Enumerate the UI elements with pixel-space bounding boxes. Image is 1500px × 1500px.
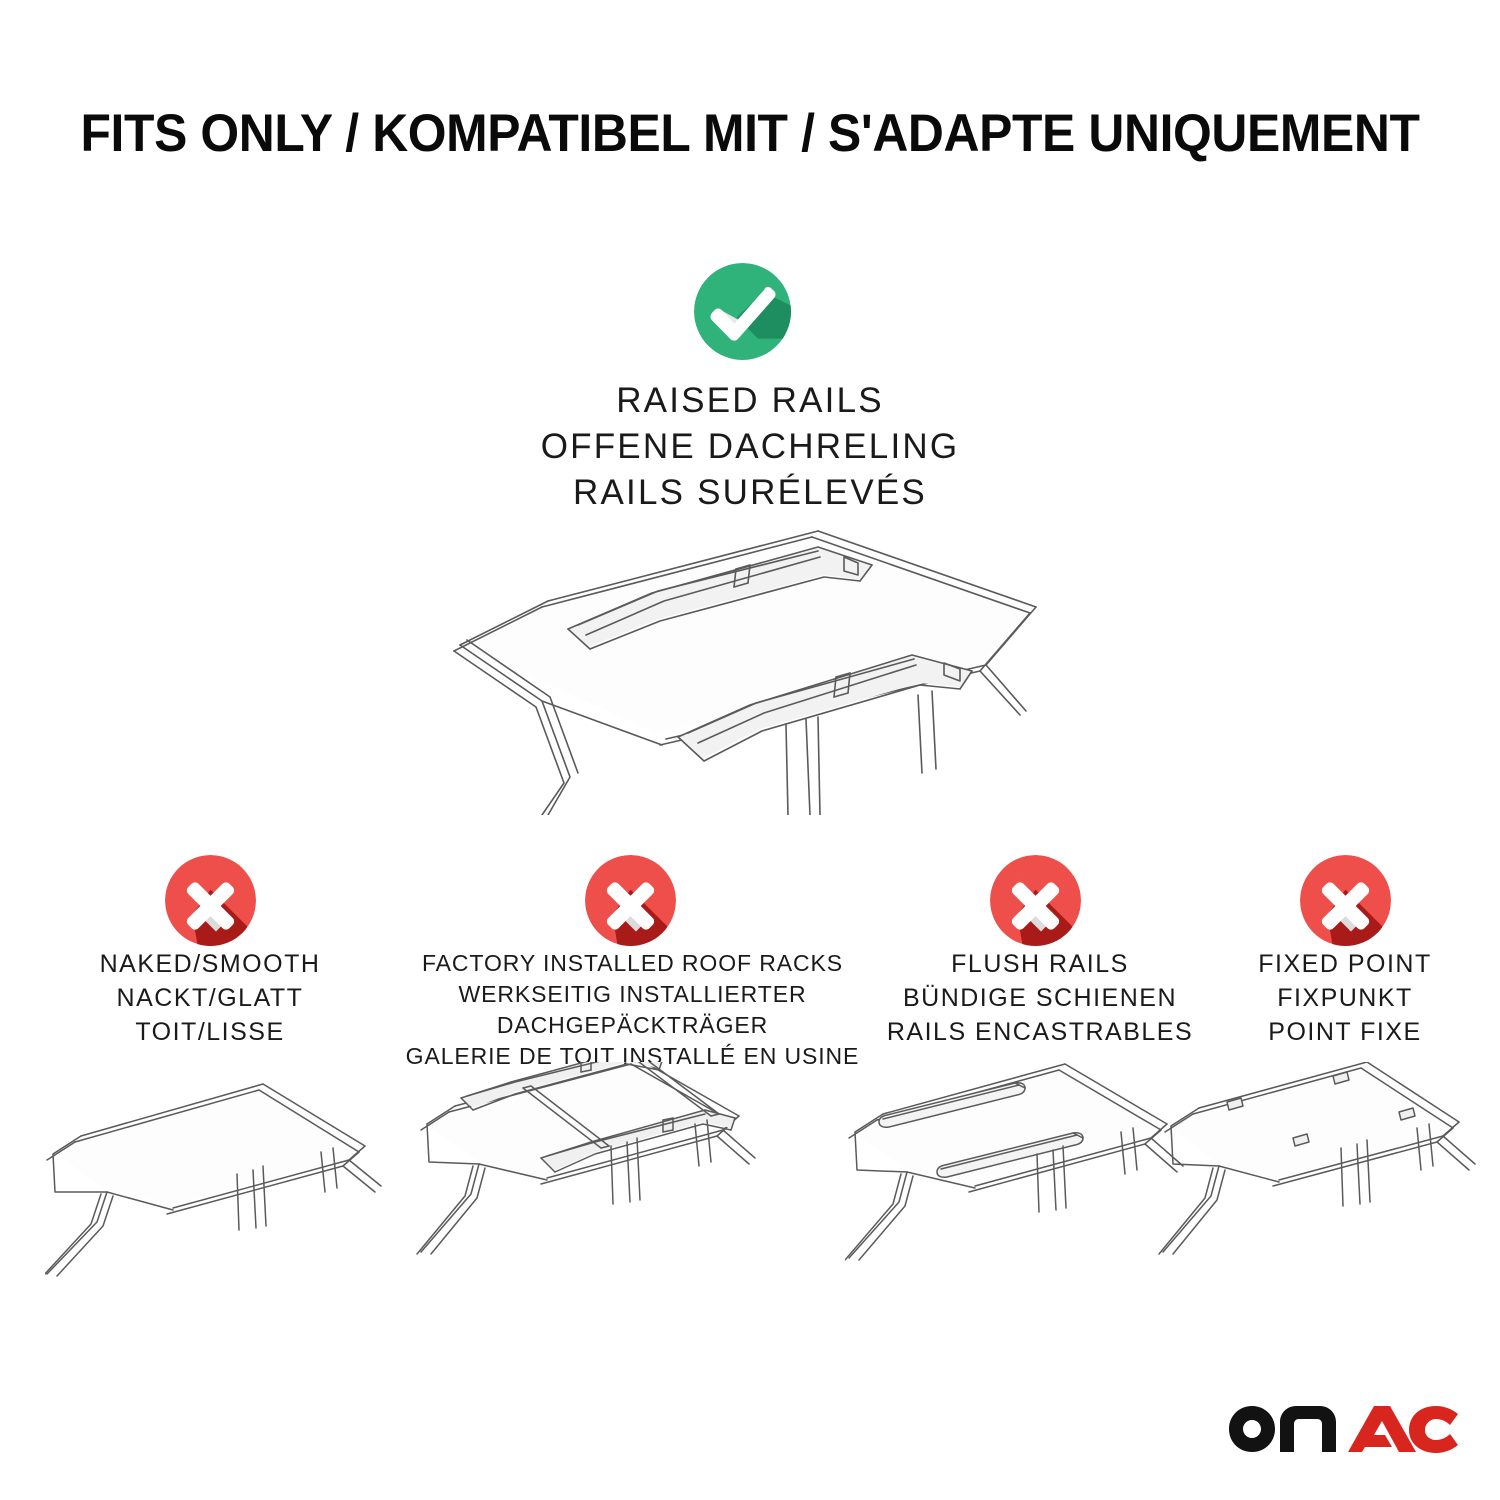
car-roof-factory-racks-illustration <box>415 1062 785 1277</box>
car-roof-raised-rails-illustration <box>420 515 1080 815</box>
incompatible-1-label-en: NAKED/SMOOTH <box>30 948 390 982</box>
incompatible-1-label-fr: TOIT/LISSE <box>30 1016 390 1050</box>
compatible-label-fr: RAILS SURÉLEVÉS <box>0 470 1500 517</box>
incompatible-3-label-en: FLUSH RAILS <box>860 948 1220 982</box>
compatible-label-de: OFFENE DACHRELING <box>0 424 1500 471</box>
cross-circle-icon <box>1300 855 1391 946</box>
page-title: FITS ONLY / KOMPATIBEL MIT / S'ADAPTE UN… <box>45 103 1455 164</box>
logo-letter-a <box>1348 1406 1416 1452</box>
incompatible-2-label-de: WERKSEITIG INSTALLIERTER <box>400 979 865 1010</box>
omac-logo <box>1222 1392 1464 1458</box>
incompatible-4-label-fr: POINT FIXE <box>1195 1016 1495 1050</box>
car-roof-fixed-point-illustration <box>1155 1062 1500 1277</box>
car-roof-naked-illustration <box>45 1062 415 1277</box>
incompatible-4-label-de: FIXPUNKT <box>1195 982 1495 1016</box>
incompatible-1-label-de: NACKT/GLATT <box>30 982 390 1016</box>
compatible-label-en: RAISED RAILS <box>0 378 1500 425</box>
incompatible-4-label-en: FIXED POINT <box>1195 948 1495 982</box>
cross-circle-icon <box>585 855 676 946</box>
logo-letter-m <box>1280 1406 1336 1452</box>
cross-circle-icon <box>990 855 1081 946</box>
incompatible-3-label-de: BÜNDIGE SCHIENEN <box>860 982 1220 1016</box>
incompatible-2-label-en: FACTORY INSTALLED ROOF RACKS <box>400 948 865 979</box>
incompatible-3-label-fr: RAILS ENCASTRABLES <box>860 1016 1220 1050</box>
check-circle-icon <box>694 263 791 360</box>
incompatible-2-label-de2: DACHGEPÄCKTRÄGER <box>400 1010 865 1041</box>
logo-letter-c <box>1409 1406 1458 1453</box>
cross-circle-icon <box>165 855 256 946</box>
logo-letter-o <box>1229 1406 1275 1452</box>
